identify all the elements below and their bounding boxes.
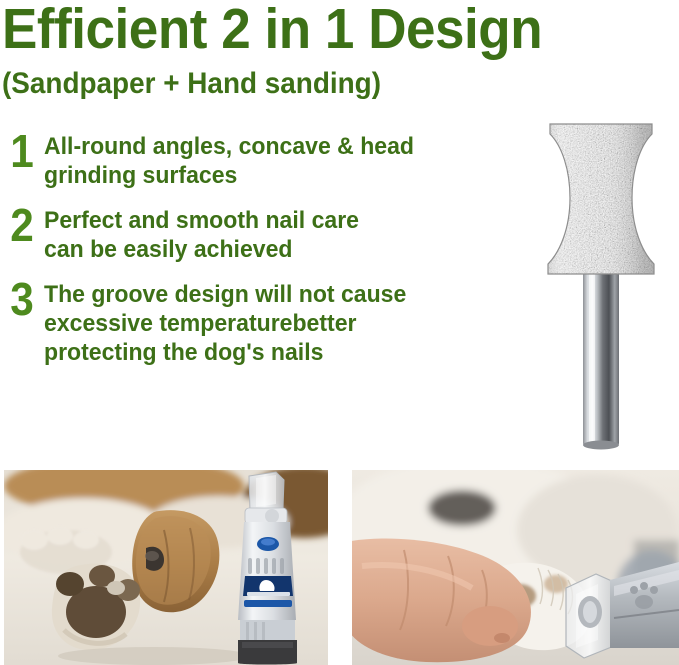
product-infographic: Efficient 2 in 1 Design (Sandpaper + Han… — [0, 0, 679, 665]
tool-collar-paw-icon — [265, 509, 279, 523]
photo-band — [0, 470, 679, 665]
photo-hand-grinding-nail — [352, 470, 679, 665]
feature-line: protecting the dog's nails — [44, 338, 501, 367]
feature-number-1: 1 — [2, 130, 42, 172]
feature-number-3: 3 — [2, 278, 42, 320]
feature-number-2: 2 — [2, 204, 42, 246]
feature-text-2: Perfect and smooth nail care can be easi… — [44, 204, 501, 264]
feature-item-2: 2 Perfect and smooth nail care can be ea… — [0, 204, 520, 264]
bit-shaft — [583, 260, 619, 446]
page-title: Efficient 2 in 1 Design — [2, 0, 542, 60]
feature-text-1: All-round angles, concave & head grindin… — [44, 130, 501, 190]
feature-item-3: 3 The groove design will not cause exces… — [0, 278, 520, 367]
feature-list: 1 All-round angles, concave & head grind… — [0, 130, 520, 381]
feature-line: excessive temperaturebetter — [44, 309, 501, 338]
feature-line: Perfect and smooth nail care — [44, 206, 501, 235]
tool-speed-indicator — [244, 600, 292, 607]
product-image-grinding-bit — [528, 112, 674, 452]
page-subtitle: (Sandpaper + Hand sanding) — [2, 66, 381, 102]
feature-line: All-round angles, concave & head — [44, 132, 501, 161]
feature-text-3: The groove design will not cause excessi… — [44, 278, 501, 367]
feature-line: can be easily achieved — [44, 235, 501, 264]
feature-line: grinding surfaces — [44, 161, 501, 190]
feature-line: The groove design will not cause — [44, 280, 501, 309]
feature-item-1: 1 All-round angles, concave & head grind… — [0, 130, 520, 190]
photo-dog-paws-with-grinder — [4, 470, 328, 665]
